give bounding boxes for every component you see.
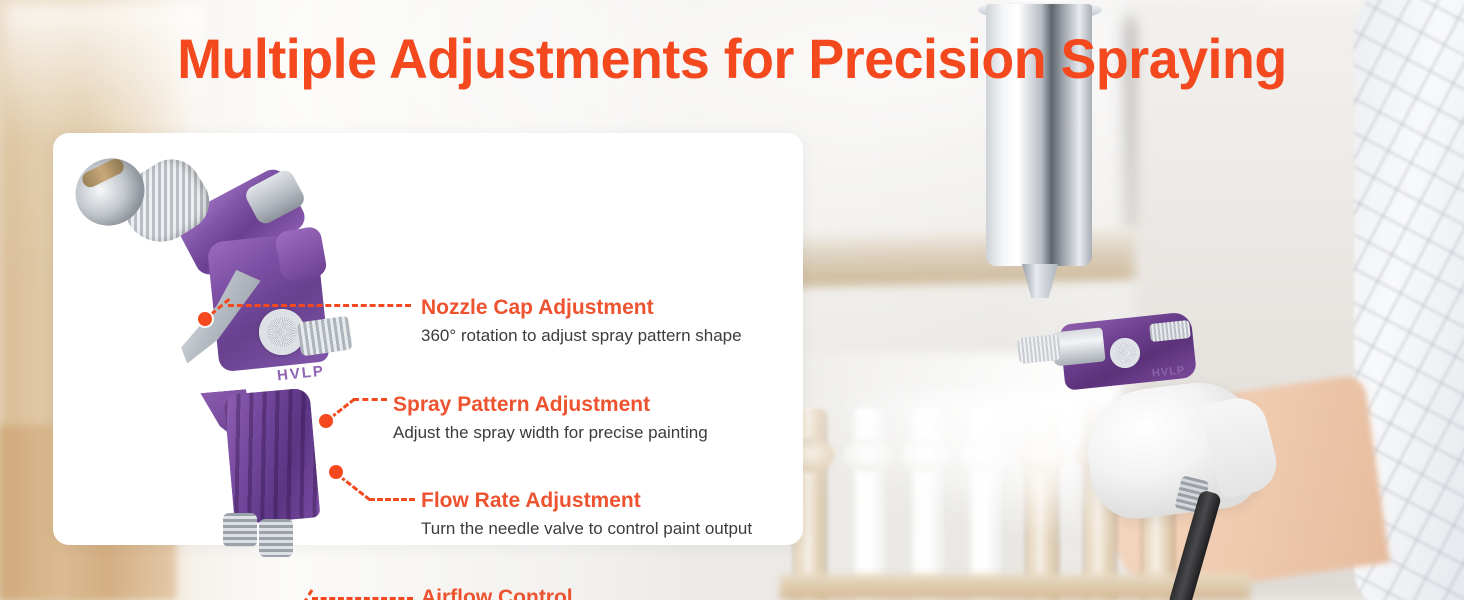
baluster [850, 408, 886, 600]
baluster [908, 408, 944, 600]
photo-nozzle-cap [1017, 334, 1061, 364]
leader-line-flow [369, 498, 415, 501]
feature-title: Airflow Control [421, 586, 764, 600]
hotspot-dot-flow-rate[interactable] [329, 465, 343, 479]
gun-hook [274, 225, 328, 282]
feature-airflow-control: Airflow Control Regulate air volume to c… [421, 586, 764, 600]
photo-pattern-knob [1110, 338, 1140, 368]
feature-spray-pattern-adjustment: Spray Pattern Adjustment Adjust the spra… [393, 393, 708, 443]
gun-grip [223, 387, 320, 524]
feature-description: Turn the needle valve to control paint o… [421, 518, 752, 539]
leader-line-nozzle [228, 304, 411, 307]
feature-title: Spray Pattern Adjustment [393, 393, 708, 417]
infographic-banner: HVLP Multiple Adjustments for Precision … [0, 0, 1464, 600]
gun-air-fitting [223, 513, 257, 547]
baluster [966, 408, 1002, 600]
paint-cup-neck [1022, 264, 1058, 298]
feature-description: 360° rotation to adjust spray pattern sh… [421, 325, 742, 346]
feature-flow-rate-adjustment: Flow Rate Adjustment Turn the needle val… [421, 489, 752, 539]
gun-flow-fitting [259, 519, 293, 557]
feature-title: Nozzle Cap Adjustment [421, 296, 742, 320]
gun-hvlp-label: HVLP [276, 363, 326, 385]
gun-fan-valve [297, 316, 353, 357]
leader-line-pattern [353, 398, 387, 401]
hotspot-dot-spray-pattern[interactable] [319, 414, 333, 428]
feature-card: HVLP Nozzle Cap Adjustment 360° rotation… [53, 133, 803, 545]
baluster [1024, 408, 1060, 600]
feature-nozzle-cap-adjustment: Nozzle Cap Adjustment 360° rotation to a… [421, 296, 742, 346]
feature-description: Adjust the spray width for precise paint… [393, 422, 708, 443]
page-title: Multiple Adjustments for Precision Spray… [29, 28, 1434, 90]
hotspot-dot-nozzle-cap[interactable] [198, 312, 212, 326]
feature-title: Flow Rate Adjustment [421, 489, 752, 513]
product-spray-gun-image: HVLP [63, 141, 353, 541]
